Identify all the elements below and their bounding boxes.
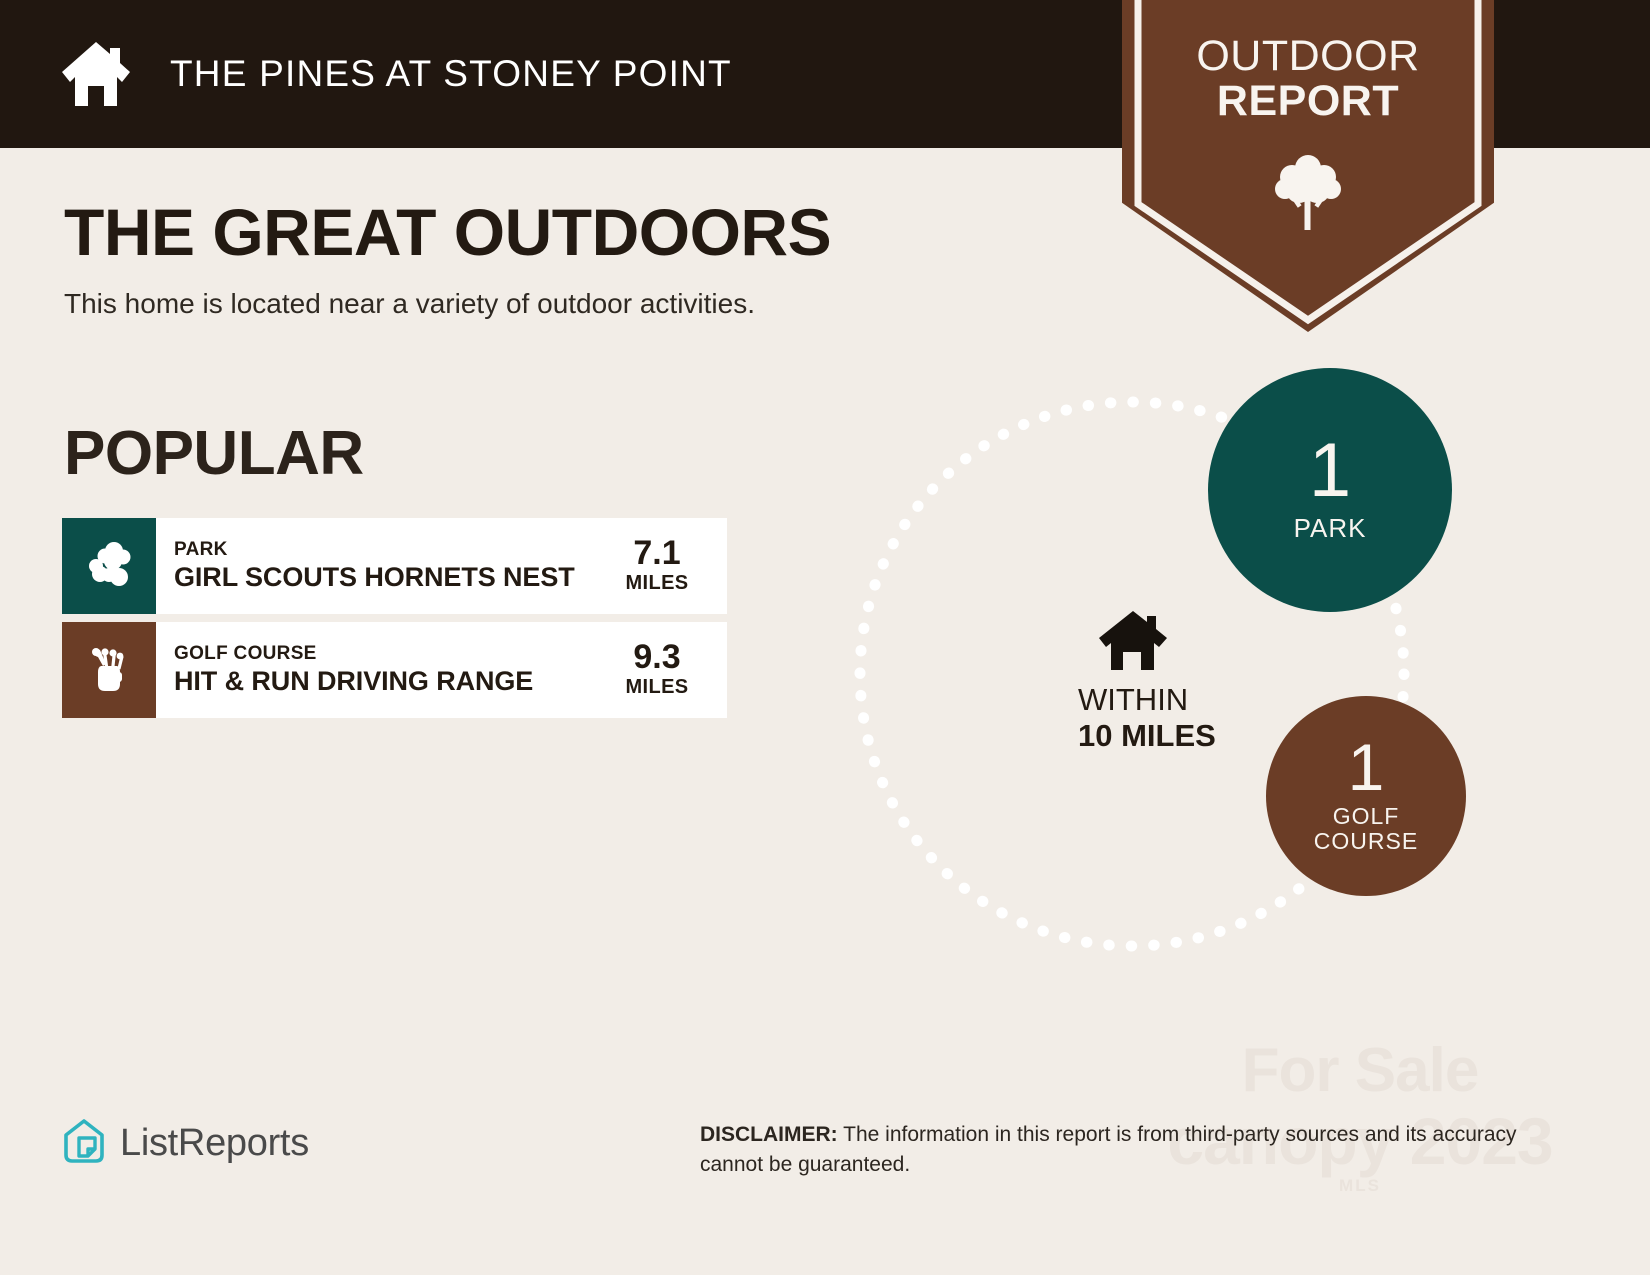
stat-label: GOLF COURSE	[1314, 804, 1418, 856]
distance-unit: MILES	[625, 570, 688, 596]
list-item-name: HIT & RUN DRIVING RANGE	[174, 666, 599, 698]
list-item-body: GOLF COURSE HIT & RUN DRIVING RANGE	[156, 622, 605, 718]
radius-diagram: WITHIN 10 MILES 1 PARK 1 GOLF COURSE	[820, 350, 1520, 990]
list-item[interactable]: GOLF COURSE HIT & RUN DRIVING RANGE 9.3 …	[62, 622, 727, 718]
park-tree-icon	[62, 518, 156, 614]
badge-line-1: OUTDOOR	[1122, 34, 1494, 79]
center-label-distance: 10 MILES	[1078, 718, 1188, 754]
listreports-logo-text: ListReports	[120, 1122, 309, 1165]
list-item-body: PARK GIRL SCOUTS HORNETS NEST	[156, 518, 605, 614]
home-icon	[1078, 608, 1188, 674]
golf-bag-icon	[62, 622, 156, 718]
outdoor-report-badge: OUTDOOR REPORT	[1122, 0, 1494, 332]
listreports-logo[interactable]: ListReports	[62, 1118, 309, 1169]
watermark-for-sale: For Sale	[1150, 1040, 1570, 1102]
center-label-within: WITHIN	[1078, 682, 1188, 718]
property-name: THE PINES AT STONEY POINT	[170, 53, 732, 95]
popular-list: PARK GIRL SCOUTS HORNETS NEST 7.1 MILES	[62, 518, 727, 726]
list-item[interactable]: PARK GIRL SCOUTS HORNETS NEST 7.1 MILES	[62, 518, 727, 614]
stat-label-line-2: COURSE	[1314, 829, 1418, 855]
stat-circle-golf-course[interactable]: 1 GOLF COURSE	[1266, 696, 1466, 896]
section-title-popular: POPULAR	[64, 418, 364, 489]
distance-value: 9.3	[633, 640, 680, 674]
list-item-category: GOLF COURSE	[174, 642, 599, 666]
distance-unit: MILES	[625, 674, 688, 700]
list-item-category: PARK	[174, 538, 599, 562]
distance-value: 7.1	[633, 536, 680, 570]
tree-icon	[1271, 152, 1345, 232]
page-title: THE GREAT OUTDOORS	[64, 194, 831, 270]
disclaimer: DISCLAIMER: The information in this repo…	[700, 1120, 1520, 1180]
listreports-house-icon	[62, 1118, 106, 1169]
page-subtitle: This home is located near a variety of o…	[64, 288, 755, 320]
center-home-marker: WITHIN 10 MILES	[1078, 608, 1188, 753]
stat-circle-park[interactable]: 1 PARK	[1208, 368, 1452, 612]
list-item-name: GIRL SCOUTS HORNETS NEST	[174, 562, 599, 594]
stat-count: 1	[1309, 436, 1351, 506]
list-item-distance: 7.1 MILES	[605, 518, 727, 614]
stat-label-line-1: GOLF	[1314, 804, 1418, 830]
disclaimer-label: DISCLAIMER:	[700, 1123, 838, 1146]
badge-line-2: REPORT	[1122, 79, 1494, 124]
badge-title: OUTDOOR REPORT	[1122, 34, 1494, 124]
home-icon	[58, 38, 134, 110]
list-item-distance: 9.3 MILES	[605, 622, 727, 718]
stat-label: PARK	[1294, 514, 1367, 543]
stat-count: 1	[1348, 737, 1385, 798]
